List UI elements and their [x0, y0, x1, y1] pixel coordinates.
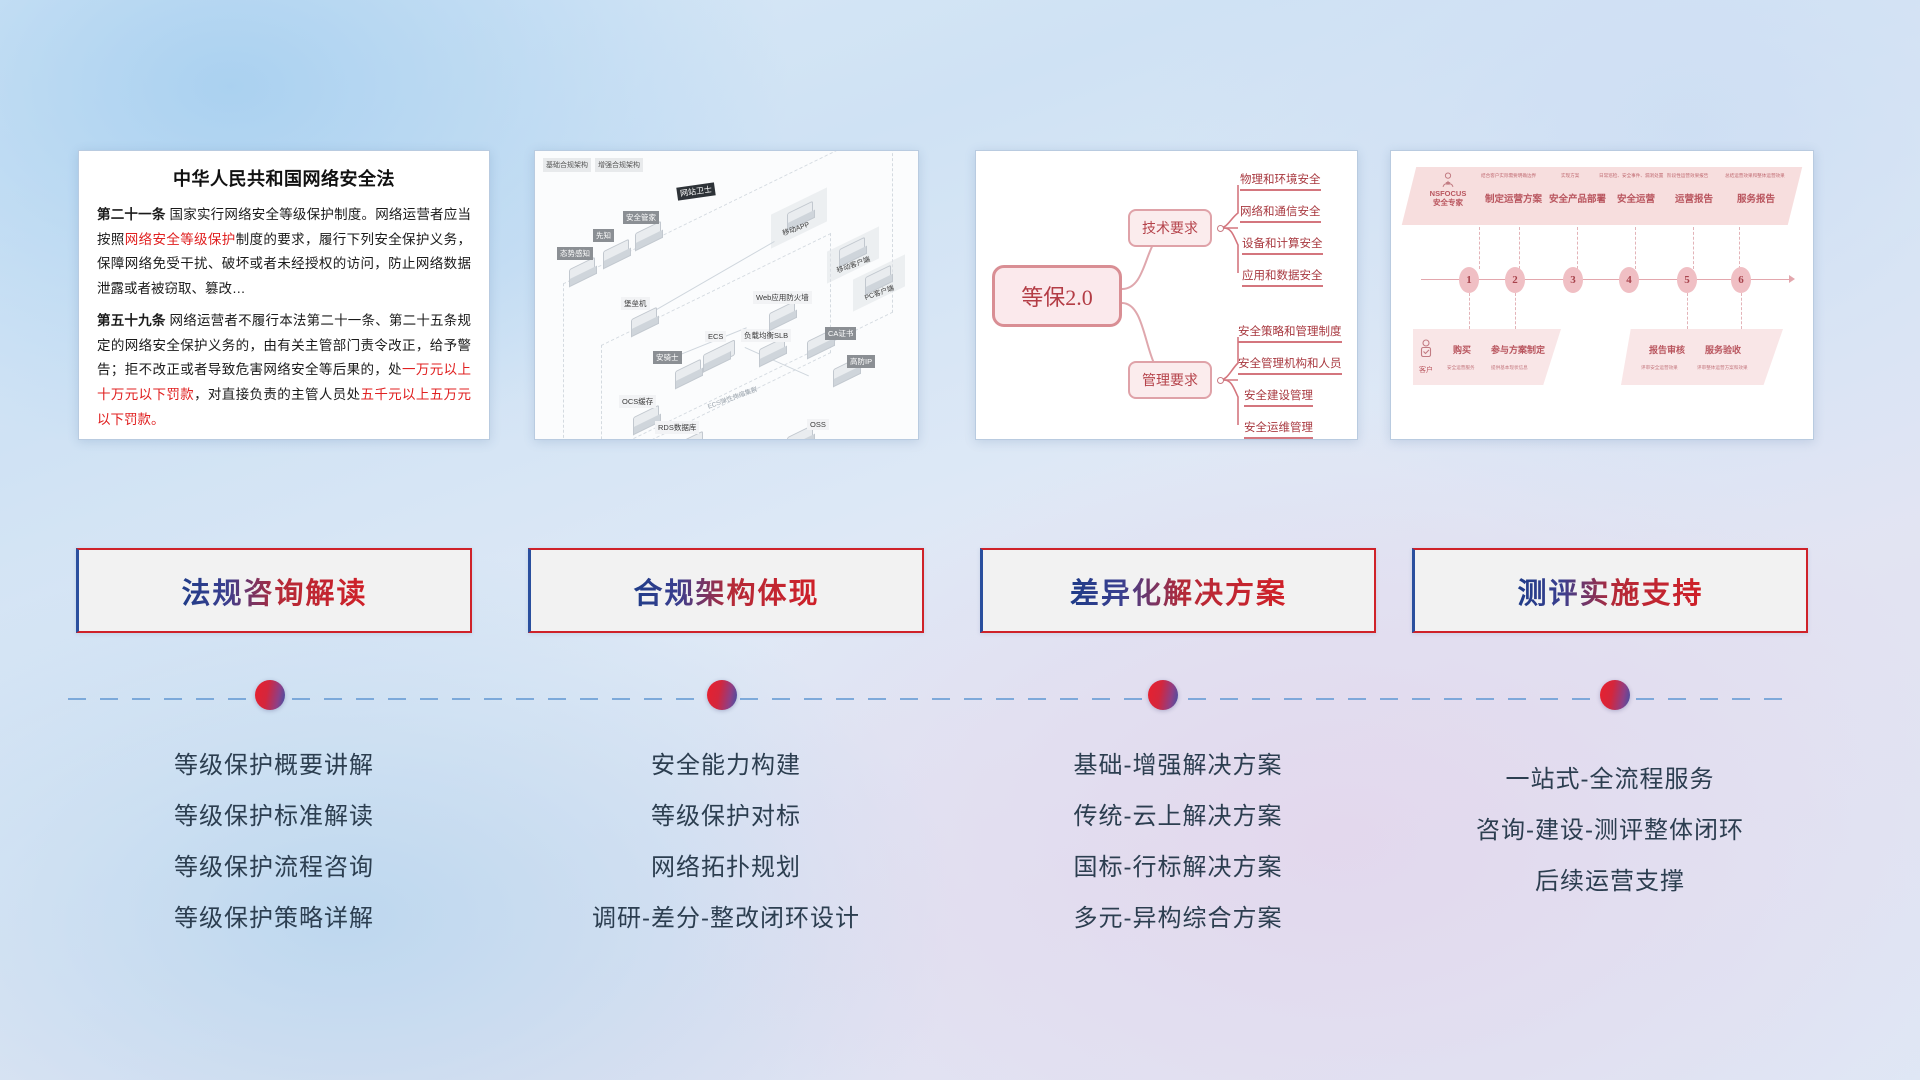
- law-paragraph-59: 第五十九条 网络运营者不履行本法第二十一条、第二十五条规定的网络安全保护义务的，…: [97, 309, 471, 432]
- mindmap: 等保2.0 技术要求 物理和环境安全 网络和通信安全 设备和计算安全 应用和数据…: [976, 151, 1357, 439]
- roadmap-node-3[interactable]: 3: [1563, 267, 1583, 293]
- roadmap-dash-6-bottom: [1741, 293, 1742, 329]
- expert-person-icon: [1441, 172, 1455, 188]
- roadmap-banner-note-1: 结合客户实际需要明确边界: [1481, 173, 1536, 179]
- iso-label-ocs-cache: OCS缓存: [619, 395, 656, 408]
- mindmap-leaf-ops-mgmt: 安全运维管理: [1244, 419, 1313, 439]
- timeline-dashed-line: [68, 698, 1790, 700]
- mindmap-branch-technical: 技术要求: [1128, 209, 1212, 247]
- mindmap-leaf-physical-env: 物理和环境安全: [1240, 171, 1321, 191]
- list-item: 国标-行标解决方案: [980, 842, 1376, 893]
- label-text-regulation-consulting: 法规咨询解读: [181, 570, 367, 612]
- roadmap-dash-4-top: [1635, 227, 1636, 269]
- article-number-21: 第二十一条: [97, 207, 166, 222]
- card-cybersecurity-law[interactable]: 中华人民共和国网络安全法 第二十一条 国家实行网络安全等级保护制度。网络运营者应…: [78, 150, 490, 440]
- iso-label-situational-awareness: 态势感知: [557, 247, 593, 260]
- list-item: 咨询-建设-测评整体闭环: [1412, 805, 1808, 856]
- law-title: 中华人民共和国网络安全法: [97, 165, 471, 191]
- roadmap-banner-title-5: 服务报告: [1737, 191, 1775, 205]
- list-item: 安全能力构建: [528, 740, 924, 791]
- iso-label-anti-ddos-ip: 高防IP: [847, 355, 875, 368]
- list-item: 等级保护策略详解: [76, 893, 472, 944]
- timeline-dot-4[interactable]: [1600, 680, 1630, 710]
- roadmap-banner-note-5: 总结运营效果和整体运营效果: [1725, 173, 1785, 179]
- card-service-roadmap[interactable]: NSFOCUS 安全专家 结合客户实际需要明确边界 制定运营方案 实现方案 安全…: [1390, 150, 1814, 440]
- roadmap-customer-label: 客户: [1419, 365, 1433, 375]
- iso-label-xianzhi: 先知: [593, 229, 614, 242]
- mindmap-root-node: 等保2.0: [992, 265, 1122, 327]
- roadmap-node-1[interactable]: 1: [1459, 267, 1479, 293]
- roadmap-dash-2-bottom: [1515, 293, 1516, 329]
- roadmap-customer-note-1: 安全运营服务: [1447, 365, 1475, 371]
- mindmap-leaf-device-compute: 设备和计算安全: [1242, 235, 1323, 255]
- roadmap-customer-title-1: 购买: [1453, 343, 1471, 356]
- architecture-tag-row: 基础合规架构 增强合规架构: [543, 158, 643, 172]
- section-label-row: 法规咨询解读 合规架构体现 差异化解决方案 测评实施支持: [0, 548, 1920, 633]
- service-list-assessment-support: 一站式-全流程服务 咨询-建设-测评整体闭环 后续运营支撑: [1412, 754, 1808, 907]
- roadmap-node-4[interactable]: 4: [1619, 267, 1639, 293]
- list-item: 等级保护标准解读: [76, 791, 472, 842]
- list-item: 基础-增强解决方案: [980, 740, 1376, 791]
- article-21-run-1: 网络安全等级保护: [125, 232, 236, 247]
- roadmap-dash-5-top: [1693, 227, 1694, 269]
- label-text-differentiated-solution: 差异化解决方案: [1070, 570, 1287, 612]
- service-list-compliance-architecture: 安全能力构建 等级保护对标 网络拓扑规划 调研-差分-整改闭环设计: [528, 740, 924, 944]
- iso-label-anqishi: 安骑士: [653, 351, 682, 364]
- label-box-regulation-consulting[interactable]: 法规咨询解读: [76, 548, 472, 633]
- article-59-run-2: ，对直接负责的主管人员处: [194, 387, 360, 402]
- roadmap-customer-note-3: 评审安全运营效果: [1641, 365, 1678, 371]
- roadmap-banner-note-4: 阶段性运营效果报告: [1667, 173, 1708, 179]
- roadmap-dash-1-top: [1479, 227, 1480, 269]
- list-item: 等级保护对标: [528, 791, 924, 842]
- roadmap-banner-title-3: 安全运营: [1617, 191, 1655, 205]
- mindmap-leaf-app-data: 应用和数据安全: [1242, 267, 1323, 287]
- iso-label-waf: Web应用防火墙: [753, 291, 812, 304]
- mindmap-leaf-org-personnel: 安全管理机构和人员: [1238, 355, 1342, 375]
- roadmap-dash-1-bottom: [1469, 293, 1470, 329]
- law-content: 中华人民共和国网络安全法 第二十一条 国家实行网络安全等级保护制度。网络运营者应…: [79, 151, 489, 440]
- roadmap-customer-note-2: 提供基本现状信息: [1491, 365, 1528, 371]
- mindmap-leaf-policy-system: 安全策略和管理制度: [1238, 323, 1342, 343]
- roadmap-banner-title-1: 制定运营方案: [1485, 191, 1542, 205]
- mindmap-branch-management: 管理要求: [1128, 361, 1212, 399]
- roadmap-node-5[interactable]: 5: [1677, 267, 1697, 293]
- list-item: 网络拓扑规划: [528, 842, 924, 893]
- label-text-compliance-architecture: 合规架构体现: [633, 570, 819, 612]
- roadmap-provider-banner-content: NSFOCUS 安全专家 结合客户实际需要明确边界 制定运营方案 实现方案 安全…: [1409, 167, 1795, 225]
- iso-label-slb: 负载均衡SLB: [741, 329, 791, 342]
- roadmap-customer-note-4: 评审整体运营方案和效果: [1697, 365, 1748, 371]
- roadmap-dash-2-top: [1519, 227, 1520, 269]
- iso-label-rds-db: RDS数据库: [655, 421, 699, 434]
- list-item: 多元-异构综合方案: [980, 893, 1376, 944]
- iso-label-security-butler: 安全管家: [623, 211, 659, 224]
- roadmap-dash-3-top: [1577, 227, 1578, 269]
- timeline-dot-2[interactable]: [707, 680, 737, 710]
- roadmap-brand-line1: NSFOCUS: [1425, 189, 1471, 198]
- timeline-dot-1[interactable]: [255, 680, 285, 710]
- mindmap-collapse-dot-management[interactable]: [1217, 377, 1224, 384]
- label-box-differentiated-solution[interactable]: 差异化解决方案: [980, 548, 1376, 633]
- roadmap-customer-title-2: 参与方案制定: [1491, 343, 1545, 356]
- mindmap-leaf-network-comm: 网络和通信安全: [1240, 203, 1321, 223]
- label-text-assessment-support: 测评实施支持: [1517, 570, 1703, 612]
- mindmap-leaf-construction-mgmt: 安全建设管理: [1244, 387, 1313, 407]
- roadmap-axis-arrow-icon: [1789, 275, 1795, 283]
- list-item: 一站式-全流程服务: [1412, 754, 1808, 805]
- label-box-compliance-architecture[interactable]: 合规架构体现: [528, 548, 924, 633]
- list-item: 等级保护流程咨询: [76, 842, 472, 893]
- roadmap-banner-title-2: 安全产品部署: [1549, 191, 1606, 205]
- iso-label-bastion-host: 堡垒机: [621, 297, 650, 310]
- roadmap-customer-tab-left: [1413, 329, 1561, 385]
- iso-label-ecs: ECS: [705, 331, 726, 342]
- isometric-diagram: 基础合规架构 增强合规架构 态势感知 先知 安全管家 网站卫士 堡垒机: [535, 151, 918, 439]
- label-box-assessment-support[interactable]: 测评实施支持: [1412, 548, 1808, 633]
- service-list-differentiated-solution: 基础-增强解决方案 传统-云上解决方案 国标-行标解决方案 多元-异构综合方案: [980, 740, 1376, 944]
- law-paragraph-21: 第二十一条 国家实行网络安全等级保护制度。网络运营者应当按照网络安全等级保护制度…: [97, 203, 471, 301]
- roadmap-customer-title-4: 服务验收: [1705, 343, 1741, 356]
- iso-label-ca-cert: CA证书: [825, 327, 856, 340]
- image-cards-row: 中华人民共和国网络安全法 第二十一条 国家实行网络安全等级保护制度。网络运营者应…: [0, 150, 1920, 440]
- article-number-59: 第五十九条: [97, 313, 166, 328]
- roadmap-customer-title-3: 报告审核: [1649, 343, 1685, 356]
- timeline: [0, 694, 1920, 704]
- card-compliance-architecture[interactable]: 基础合规架构 增强合规架构 态势感知 先知 安全管家 网站卫士 堡垒机: [534, 150, 919, 440]
- customer-person-icon: [1419, 339, 1433, 361]
- service-list-regulation-consulting: 等级保护概要讲解 等级保护标准解读 等级保护流程咨询 等级保护策略详解: [76, 740, 472, 944]
- list-item: 传统-云上解决方案: [980, 791, 1376, 842]
- architecture-tag-enhanced: 增强合规架构: [595, 158, 643, 172]
- iso-label-website-guard: 网站卫士: [676, 182, 715, 200]
- roadmap-node-6[interactable]: 6: [1731, 267, 1751, 293]
- list-item: 后续运营支撑: [1412, 856, 1808, 907]
- roadmap-dash-6-top: [1739, 227, 1740, 269]
- roadmap-diagram: NSFOCUS 安全专家 结合客户实际需要明确边界 制定运营方案 实现方案 安全…: [1391, 151, 1813, 439]
- card-mindmap-dengbao[interactable]: 等保2.0 技术要求 物理和环境安全 网络和通信安全 设备和计算安全 应用和数据…: [975, 150, 1358, 440]
- roadmap-brand-line2: 安全专家: [1425, 198, 1471, 207]
- roadmap-node-2[interactable]: 2: [1505, 267, 1525, 293]
- roadmap-banner-note-3: 日常巡检、安全事件、漏洞处置: [1599, 173, 1663, 179]
- architecture-tag-basic: 基础合规架构: [543, 158, 591, 172]
- mindmap-collapse-dot-technical[interactable]: [1217, 225, 1224, 232]
- roadmap-brand: NSFOCUS 安全专家: [1425, 189, 1471, 208]
- roadmap-banner-note-2: 实现方案: [1561, 173, 1579, 179]
- roadmap-banner-title-4: 运营报告: [1675, 191, 1713, 205]
- roadmap-customer-tab-right: [1621, 329, 1783, 385]
- list-item: 等级保护概要讲解: [76, 740, 472, 791]
- roadmap-dash-5-bottom: [1687, 293, 1688, 329]
- timeline-dot-3[interactable]: [1148, 680, 1178, 710]
- list-item: 调研-差分-整改闭环设计: [528, 893, 924, 944]
- iso-label-oss: OSS: [807, 419, 829, 430]
